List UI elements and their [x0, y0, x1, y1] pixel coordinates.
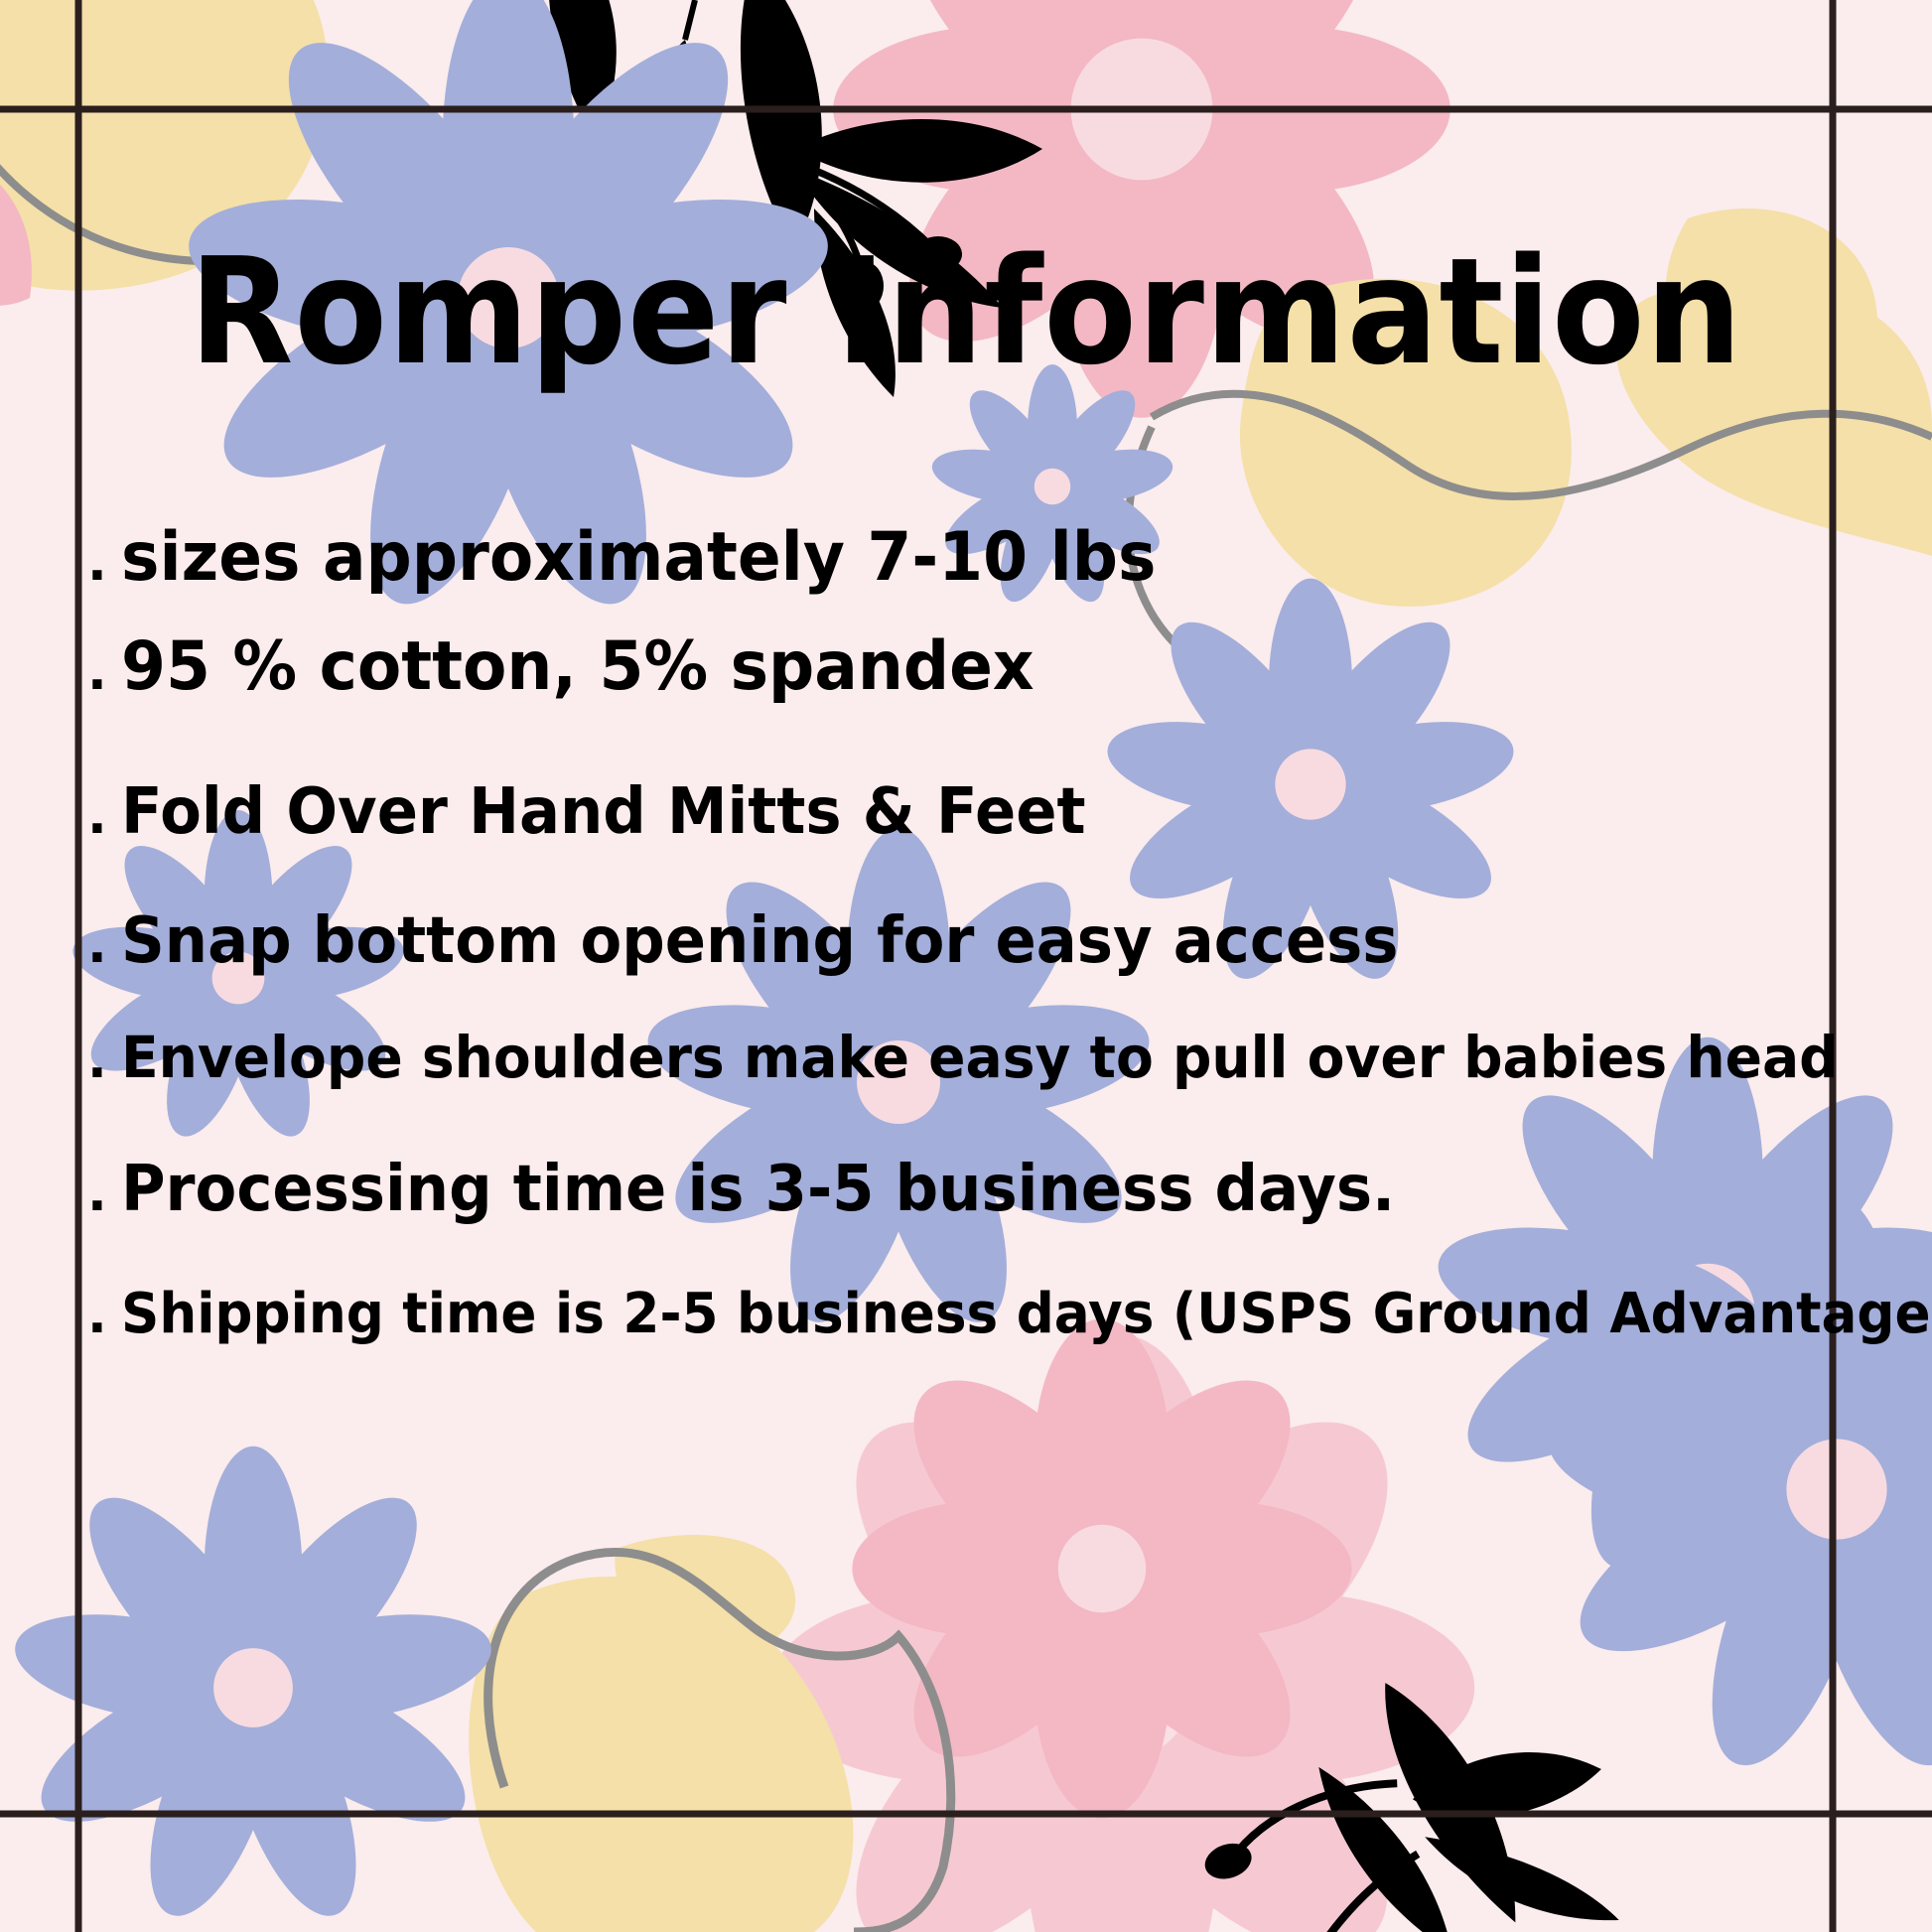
list-item: . Snap bottom opening for easy access — [87, 909, 1894, 1029]
list-item: . Processing time is 3-5 business days. — [87, 1158, 1894, 1287]
bullet-text: Envelope shoulders make easy to pull ove… — [121, 1029, 1839, 1086]
list-item: . sizes approximately 7-10 lbs — [87, 524, 1894, 633]
list-item: . 95 % cotton, 5% spandex — [87, 633, 1894, 780]
bullet-text: Snap bottom opening for easy access — [121, 909, 1398, 973]
bullet-text: 95 % cotton, 5% spandex — [121, 633, 1035, 701]
bullet-marker: . — [87, 1035, 121, 1086]
bullet-text: sizes approximately 7-10 lbs — [121, 524, 1156, 592]
bullet-marker: . — [87, 1290, 121, 1341]
bullet-text: Fold Over Hand Mitts & Feet — [121, 780, 1086, 844]
bullet-marker: . — [87, 790, 121, 842]
poster-content: Romper Information . sizes approximately… — [0, 0, 1932, 1932]
list-item: . Shipping time is 2-5 business days (US… — [87, 1287, 1894, 1406]
bullet-marker: . — [87, 1168, 121, 1219]
page-title: Romper Information — [77, 238, 1855, 385]
bullet-text: Shipping time is 2-5 business days (USPS… — [121, 1287, 1932, 1342]
bullet-text: Processing time is 3-5 business days. — [121, 1158, 1395, 1221]
poster-canvas: Romper Information . sizes approximately… — [0, 0, 1932, 1932]
romper-info-list: . sizes approximately 7-10 lbs . 95 % co… — [87, 524, 1894, 1406]
list-item: . Envelope shoulders make easy to pull o… — [87, 1029, 1894, 1158]
bullet-marker: . — [87, 537, 121, 589]
list-item: . Fold Over Hand Mitts & Feet — [87, 780, 1894, 909]
bullet-marker: . — [87, 919, 121, 971]
bullet-marker: . — [87, 646, 121, 698]
